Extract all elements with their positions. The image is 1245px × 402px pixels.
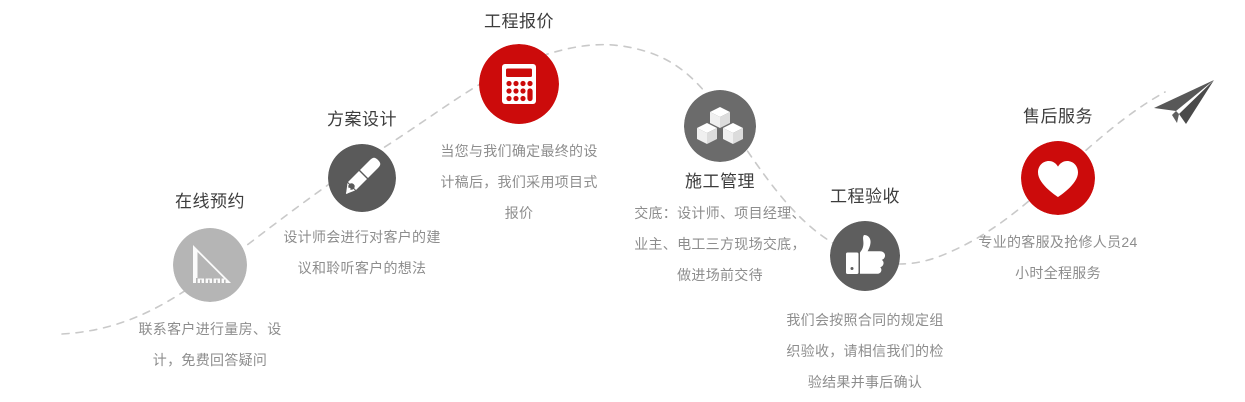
fountain-pen-icon [328, 144, 396, 212]
step-description: 当您与我们确定最终的设计稿后，我们采用项目式报价 [439, 136, 599, 229]
heart-icon [1021, 141, 1095, 215]
step-description: 专业的客服及抢修人员24小时全程服务 [978, 227, 1138, 289]
step-icon-wrapper [963, 141, 1153, 215]
step-title: 工程报价 [424, 10, 614, 34]
step-title: 工程验收 [770, 185, 960, 209]
step-icon-wrapper [424, 44, 614, 124]
step-item-3: 工程报价 当 [424, 10, 614, 229]
step-description: 联系客户进行量房、设计，免费回答疑问 [130, 314, 290, 376]
step-icon-wrapper [625, 90, 815, 162]
calculator-icon [479, 44, 559, 124]
step-title: 售后服务 [963, 105, 1153, 129]
step-icon-wrapper [770, 221, 960, 291]
step-description: 设计师会进行对客户的建议和聆听客户的想法 [282, 222, 442, 284]
step-description: 我们会按照合同的规定组织验收，请相信我们的检验结果并事后确认 [785, 305, 945, 398]
thumbs-up-icon [830, 221, 900, 291]
cubes-icon [684, 90, 756, 162]
ruler-triangle-icon [173, 228, 247, 302]
step-item-5: 工程验收 我们会按照合同的规定组织验收，请相信我们的检验结果并事后确认 [770, 185, 960, 398]
process-flow-infographic: 在线预约 联系客户进行量房、设计，免费回答疑问 方 [0, 0, 1245, 402]
paper-plane-icon [1146, 78, 1218, 126]
step-item-6: 售后服务 专业的客服及抢修人员24小时全程服务 [963, 105, 1153, 289]
